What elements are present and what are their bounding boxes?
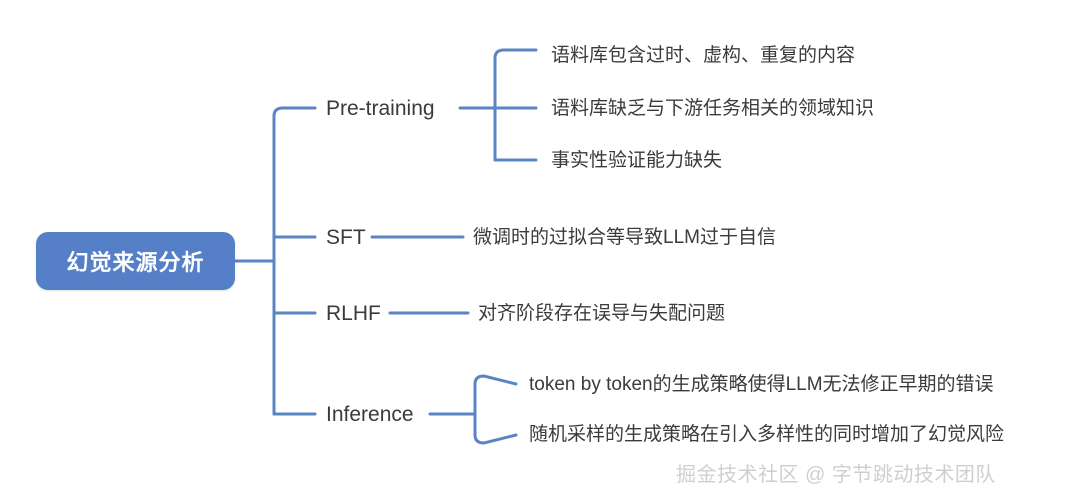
connector-inference-leaf-1 <box>475 376 516 384</box>
root-node[interactable]: 幻觉来源分析 <box>36 232 235 290</box>
branch-label-pre-training[interactable]: Pre-training <box>326 98 435 119</box>
watermark-text: 掘金技术社区 @ 字节跳动技术团队 <box>676 458 996 487</box>
root-node-label: 幻觉来源分析 <box>66 245 204 277</box>
leaf-label-pretraining-2[interactable]: 语料库缺乏与下游任务相关的领域知识 <box>551 99 874 118</box>
leaf-label-rlhf-1[interactable]: 对齐阶段存在误导与失配问题 <box>478 304 725 323</box>
connector-branch-pretraining <box>274 108 315 116</box>
connector-inference-leaf-2 <box>475 435 516 443</box>
mindmap-canvas: 幻觉来源分析 Pre-training SFT RLHF Inference 语… <box>0 0 1080 494</box>
leaf-label-pretraining-3[interactable]: 事实性验证能力缺失 <box>551 151 722 170</box>
connector-pretraining-leaf-1 <box>495 50 536 58</box>
leaf-label-sft-1[interactable]: 微调时的过拟合等导致LLM过于自信 <box>473 228 776 247</box>
leaf-label-inference-2[interactable]: 随机采样的生成策略在引入多样性的同时增加了幻觉风险 <box>529 425 1004 444</box>
branch-label-inference[interactable]: Inference <box>326 404 414 425</box>
leaf-label-inference-1[interactable]: token by token的生成策略使得LLM无法修正早期的错误 <box>529 375 994 394</box>
branch-label-rlhf[interactable]: RLHF <box>326 303 381 324</box>
branch-label-sft[interactable]: SFT <box>326 227 366 248</box>
leaf-label-pretraining-1[interactable]: 语料库包含过时、虚构、重复的内容 <box>551 46 855 65</box>
